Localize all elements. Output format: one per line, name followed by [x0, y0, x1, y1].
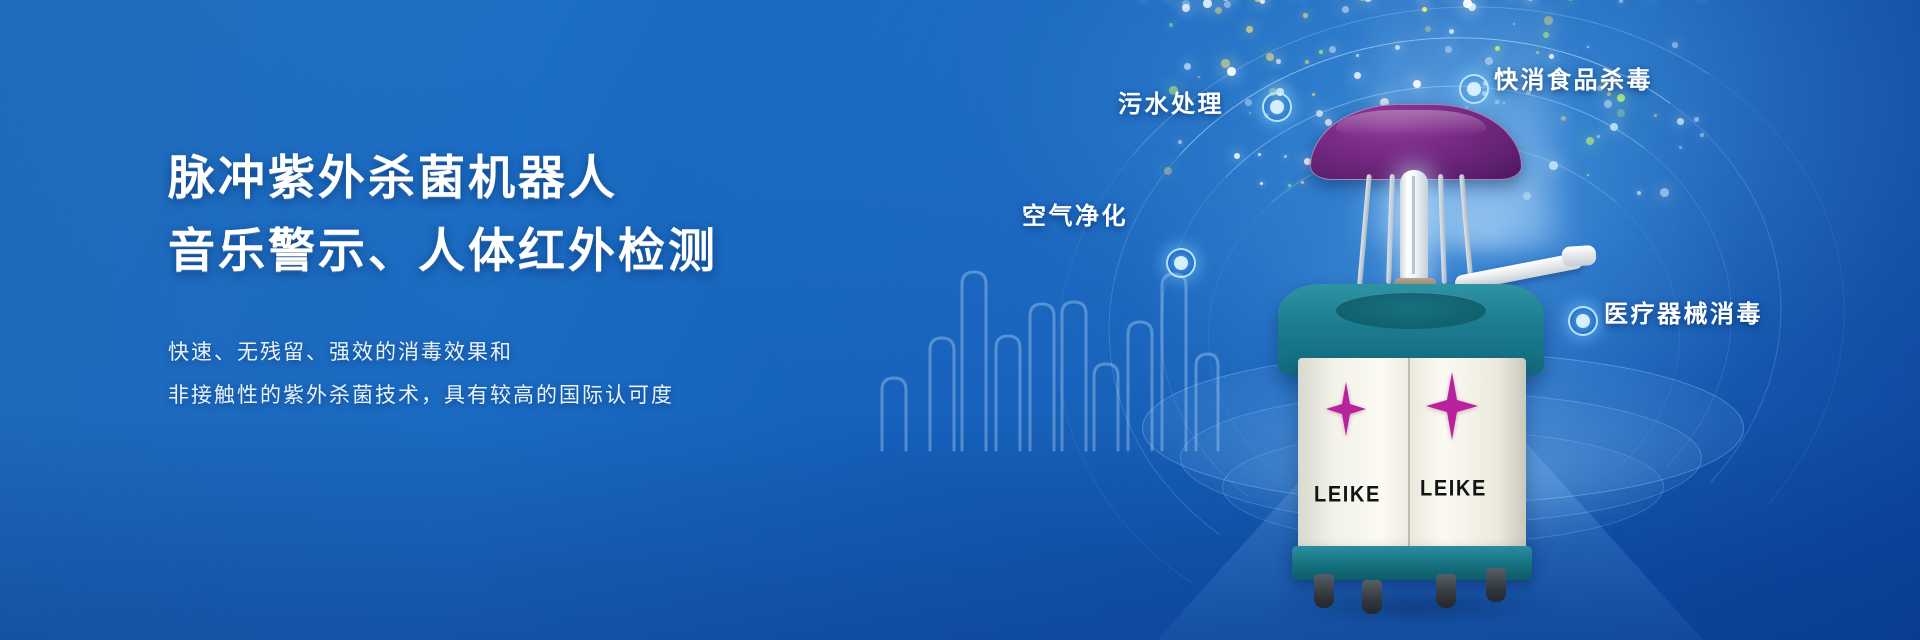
- uv-sterilization-robot: LEIKE LEIKE: [1240, 96, 1580, 596]
- subheadline-block: 快速、无残留、强效的消毒效果和 非接触性的紫外杀菌技术，具有较高的国际认可度: [168, 331, 928, 416]
- lamp-strut: [1438, 174, 1447, 284]
- particle-dot: [1342, 6, 1349, 13]
- callout-wastewater: 污水处理: [1118, 84, 1224, 119]
- caster-wheel: [1436, 574, 1456, 608]
- particle-dot: [1677, 118, 1684, 125]
- particle-dot: [1169, 23, 1173, 27]
- lamp-strut: [1357, 174, 1372, 286]
- particle-dot: [1182, 4, 1190, 12]
- callout-food-sterilization: 快消食品杀毒: [1494, 60, 1653, 95]
- particle-dot: [1276, 59, 1281, 64]
- brand-label-right: LEIKE: [1420, 477, 1487, 503]
- cap-highlight: [1336, 110, 1486, 136]
- callout-label: 医疗器械消毒: [1604, 294, 1763, 329]
- callout-air-purification: 空气净化: [1022, 196, 1128, 231]
- particle-dot: [1485, 57, 1493, 65]
- particle-dot: [1329, 46, 1336, 53]
- device-body-edge: [1408, 358, 1410, 554]
- particle-dot: [1617, 109, 1625, 117]
- particle-dot: [1672, 42, 1678, 48]
- particle-dot: [1660, 188, 1669, 197]
- caster-wheel: [1486, 568, 1506, 602]
- lamp-strut: [1459, 174, 1474, 286]
- top-housing-recess: [1336, 292, 1486, 329]
- particle-dot: [1203, 0, 1212, 8]
- sparkle-star-icon: [1326, 382, 1366, 436]
- particle-dot: [1303, 13, 1308, 18]
- particle-dot: [1184, 63, 1191, 70]
- particle-dot: [1260, 0, 1265, 4]
- particle-dot: [1221, 59, 1230, 68]
- particle-dot: [1224, 1, 1231, 8]
- callout-node-air-icon: [1166, 248, 1196, 278]
- particle-dot: [1694, 117, 1699, 122]
- particle-dot: [1610, 123, 1618, 131]
- subheadline-line-1: 快速、无残留、强效的消毒效果和: [168, 331, 928, 373]
- caster-wheel: [1314, 574, 1334, 608]
- headline-line-2: 音乐警示、人体红外检测: [168, 219, 928, 286]
- sparkle-star-icon: [1426, 372, 1478, 440]
- particle-dot: [1619, 0, 1623, 3]
- push-handle-grip: [1561, 245, 1596, 267]
- copy-block: 脉冲紫外杀菌机器人 音乐警示、人体红外检测 快速、无残留、强效的消毒效果和 非接…: [168, 146, 928, 416]
- headline-line-1: 脉冲紫外杀菌机器人: [168, 146, 928, 213]
- caster-wheel: [1362, 580, 1382, 614]
- callout-label: 空气净化: [1022, 196, 1128, 231]
- particle-dot: [1604, 100, 1612, 108]
- subheadline-line-2: 非接触性的紫外杀菌技术，具有较高的国际认可度: [168, 374, 928, 416]
- uv-lamp-seam: [1412, 176, 1415, 274]
- particle-dot: [1319, 50, 1323, 54]
- particle-dot: [1543, 32, 1549, 38]
- brand-label-left: LEIKE: [1314, 483, 1381, 509]
- particle-dot: [1227, 67, 1236, 76]
- callout-medical-disinfection: 医疗器械消毒: [1604, 294, 1763, 329]
- particle-dot: [1178, 140, 1182, 144]
- callout-label: 污水处理: [1118, 84, 1224, 119]
- particle-dot: [1463, 0, 1472, 8]
- particle-dot: [1544, 16, 1553, 25]
- particle-dot: [1266, 53, 1274, 61]
- lamp-strut: [1386, 174, 1395, 284]
- promo-banner: 脉冲紫外杀菌机器人 音乐警示、人体红外检测 快速、无残留、强效的消毒效果和 非接…: [0, 0, 1920, 640]
- particle-dot: [1215, 7, 1222, 14]
- particle-dot: [1422, 7, 1427, 12]
- callout-label: 快消食品杀毒: [1494, 60, 1653, 95]
- particle-dot: [1246, 26, 1253, 33]
- particle-dot: [1356, 54, 1359, 57]
- particle-dot: [1198, 76, 1200, 78]
